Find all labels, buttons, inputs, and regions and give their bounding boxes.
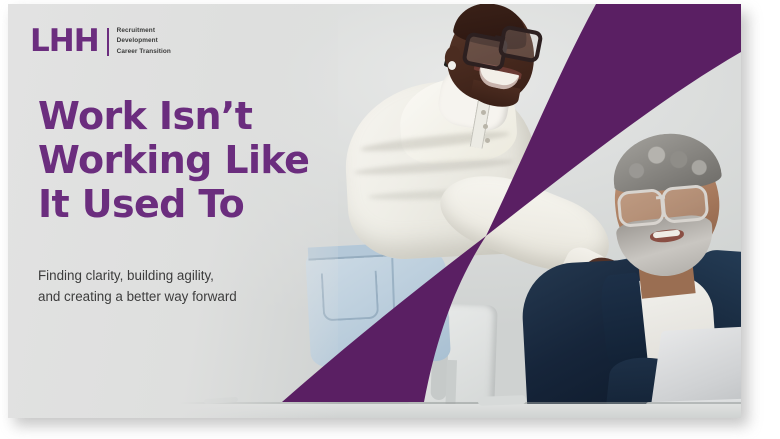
tagline-line: Recruitment [117, 26, 171, 36]
headline-line: It Used To [38, 182, 338, 226]
presentation-slide: LHH Recruitment Development Career Trans… [8, 4, 741, 418]
slide-root: LHH Recruitment Development Career Trans… [0, 0, 780, 439]
swoosh-upper-band [486, 4, 741, 236]
subheadline-line: Finding clarity, building agility, [38, 266, 328, 287]
tagline-line: Career Transition [117, 47, 171, 57]
slide-headline: Work Isn’t Working Like It Used To [38, 94, 338, 226]
slide-subheadline: Finding clarity, building agility, and c… [38, 266, 328, 308]
subheadline-line: and creating a better way forward [38, 287, 328, 308]
headline-line: Work Isn’t [38, 94, 338, 138]
logo-divider-rule [107, 28, 109, 56]
lhh-wordmark: LHH [30, 26, 99, 57]
swoosh-lower-wedge [282, 236, 486, 402]
lhh-tagline: Recruitment Development Career Transitio… [117, 26, 171, 57]
lhh-logo: LHH Recruitment Development Career Trans… [30, 26, 171, 57]
tagline-line: Development [117, 36, 171, 46]
headline-line: Working Like [38, 138, 338, 182]
